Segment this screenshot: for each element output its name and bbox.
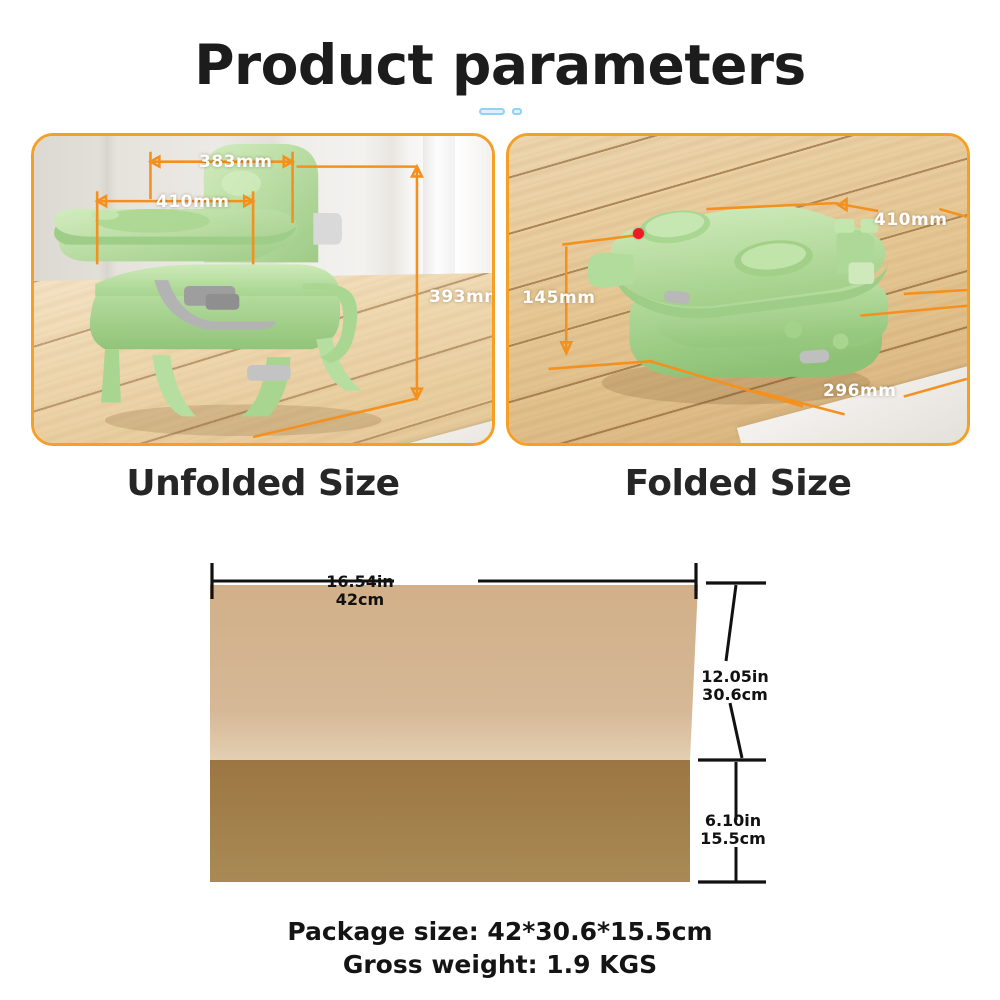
caption-unfolded-size: Unfolded Size [31,463,495,504]
page-title: Product parameters [0,38,1000,93]
caption-folded-size: Folded Size [506,463,970,504]
decoration-bar-short [512,108,522,115]
package-box-svg [190,555,770,905]
dimension-label-410mm: 410mm [874,210,947,230]
dimension-label-296mm: 296mm [823,381,896,401]
booster-seat-illustration [34,136,492,445]
scene-unfolded: 383mm 410mm 393mm [34,136,492,443]
dimension-label-410mm: 410mm [156,192,229,212]
dimension-label-393mm: 393mm [429,287,495,307]
package-box-diagram [190,555,770,905]
decoration-bar-long [479,108,505,115]
product-photo-folded: 410mm 145mm 296mm [506,133,970,446]
package-info-text: Package size: 42*30.6*15.5cm Gross weigh… [0,916,1000,981]
package-height-label: 12.05in 30.6cm [701,668,768,704]
product-photo-unfolded: 383mm 410mm 393mm [31,133,495,446]
package-width-label: 16.54in 42cm [326,573,393,609]
scene-folded: 410mm 145mm 296mm [509,136,967,443]
title-decoration [0,104,1000,118]
measurement-marker-dot [633,228,644,239]
dimension-label-383mm: 383mm [199,152,272,172]
package-depth-label: 6.10in 15.5cm [700,812,766,848]
box-front-face [210,760,690,882]
gross-weight-text: Gross weight: 1.9 KGS [0,949,1000,982]
package-size-text: Package size: 42*30.6*15.5cm [0,916,1000,949]
box-top-face [210,585,698,760]
dimension-label-145mm: 145mm [522,288,595,308]
